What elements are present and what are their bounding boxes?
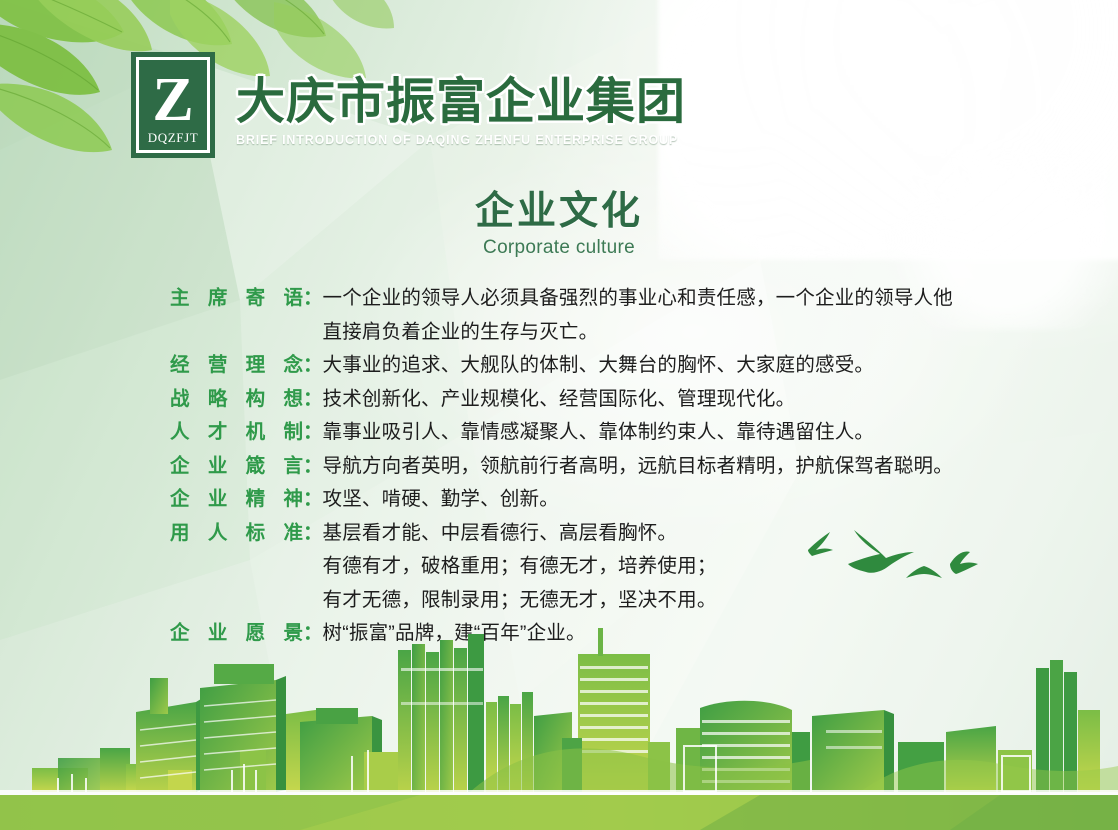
culture-row: 主席寄语：一个企业的领导人必须具备强烈的事业心和责任感，一个企业的领导人他 xyxy=(0,281,1118,315)
culture-row-colon: ： xyxy=(303,516,323,545)
culture-row-label: 企业箴言 xyxy=(170,457,303,477)
culture-row: 战略构想：技术创新化、产业规模化、经营国际化、管理现代化。 xyxy=(0,382,1118,416)
culture-row: 企业愿景：树“振富”品牌，建“百年”企业。 xyxy=(0,616,1118,650)
culture-row-text: 导航方向者英明，领航前行者高明，远航目标者精明，护航保驾者聪明。 xyxy=(323,457,953,477)
culture-row-text: 一个企业的领导人必须具备强烈的事业心和责任感，一个企业的领导人他 xyxy=(323,289,953,309)
culture-row-colon: ： xyxy=(303,482,323,511)
section-title-en: Corporate culture xyxy=(0,237,1118,259)
culture-content-list: 主席寄语：一个企业的领导人必须具备强烈的事业心和责任感，一个企业的领导人他：直接… xyxy=(0,281,1118,650)
culture-row-label: 经营理念 xyxy=(170,356,303,376)
brand-text-block: 大庆市振富企业集团 BRIEF INTRODUCTION OF DAQING Z… xyxy=(236,52,686,147)
culture-row: 企业箴言：导航方向者英明，领航前行者高明，远航目标者精明，护航保驾者聪明。 xyxy=(0,449,1118,483)
culture-row-colon: ： xyxy=(303,281,323,310)
culture-row-label: 企业精神 xyxy=(170,490,303,510)
culture-row-label: 主席寄语 xyxy=(170,289,303,309)
culture-row-colon: ： xyxy=(303,415,323,444)
culture-row: ：有才无德，限制录用；无德无才，坚决不用。 xyxy=(0,583,1118,617)
culture-row-text: 靠事业吸引人、靠情感凝聚人、靠体制约束人、靠待遇留住人。 xyxy=(323,423,875,443)
culture-row-text: 大事业的追求、大舰队的体制、大舞台的胸怀、大家庭的感受。 xyxy=(323,356,875,376)
logo-inner: Z DQZFJT xyxy=(139,60,207,150)
culture-row-colon: ： xyxy=(303,348,323,377)
culture-row: ：有德有才，破格重用；有德无才，培养使用； xyxy=(0,549,1118,583)
culture-row-text: 基层看才能、中层看德行、高层看胸怀。 xyxy=(323,524,678,544)
culture-row: ：直接肩负着企业的生存与灭亡。 xyxy=(0,315,1118,349)
section-title-block: 企业文化 Corporate culture xyxy=(0,192,1118,259)
culture-row-label: 企业愿景 xyxy=(170,624,303,644)
company-name: 大庆市振富企业集团 xyxy=(236,78,686,127)
logo-abbreviation: DQZFJT xyxy=(148,130,199,146)
company-logo: Z DQZFJT xyxy=(131,52,215,158)
culture-row-text: 攻坚、啃硬、勤学、创新。 xyxy=(323,490,559,510)
culture-row: 经营理念：大事业的追求、大舰队的体制、大舞台的胸怀、大家庭的感受。 xyxy=(0,348,1118,382)
culture-row-text: 树“振富”品牌，建“百年”企业。 xyxy=(323,624,586,644)
culture-row-text: 有才无德，限制录用；无德无才，坚决不用。 xyxy=(323,591,717,611)
culture-row-text: 有德有才，破格重用；有德无才，培养使用； xyxy=(323,557,717,577)
section-title-cn: 企业文化 xyxy=(0,192,1118,233)
culture-row-colon: ： xyxy=(303,616,323,645)
company-subtitle: BRIEF INTRODUCTION OF DAQING ZHENFU ENTE… xyxy=(236,133,686,147)
culture-row-label: 用人标准 xyxy=(170,524,303,544)
culture-row-colon: ： xyxy=(303,382,323,411)
culture-row-label: 人才机制 xyxy=(170,423,303,443)
culture-row-text: 直接肩负着企业的生存与灭亡。 xyxy=(323,323,599,343)
logo-letter: Z xyxy=(152,69,193,131)
brand-header: Z DQZFJT 大庆市振富企业集团 BRIEF INTRODUCTION OF… xyxy=(131,52,686,158)
culture-row-text: 技术创新化、产业规模化、经营国际化、管理现代化。 xyxy=(323,390,796,410)
culture-row-label: 战略构想 xyxy=(170,390,303,410)
city-skyline-silhouette xyxy=(0,620,1118,830)
culture-row: 人才机制：靠事业吸引人、靠情感凝聚人、靠体制约束人、靠待遇留住人。 xyxy=(0,415,1118,449)
culture-row: 用人标准：基层看才能、中层看德行、高层看胸怀。 xyxy=(0,516,1118,550)
culture-row: 企业精神：攻坚、啃硬、勤学、创新。 xyxy=(0,482,1118,516)
culture-row-colon: ： xyxy=(303,449,323,478)
corporate-culture-poster: Z DQZFJT 大庆市振富企业集团 BRIEF INTRODUCTION OF… xyxy=(0,0,1118,830)
